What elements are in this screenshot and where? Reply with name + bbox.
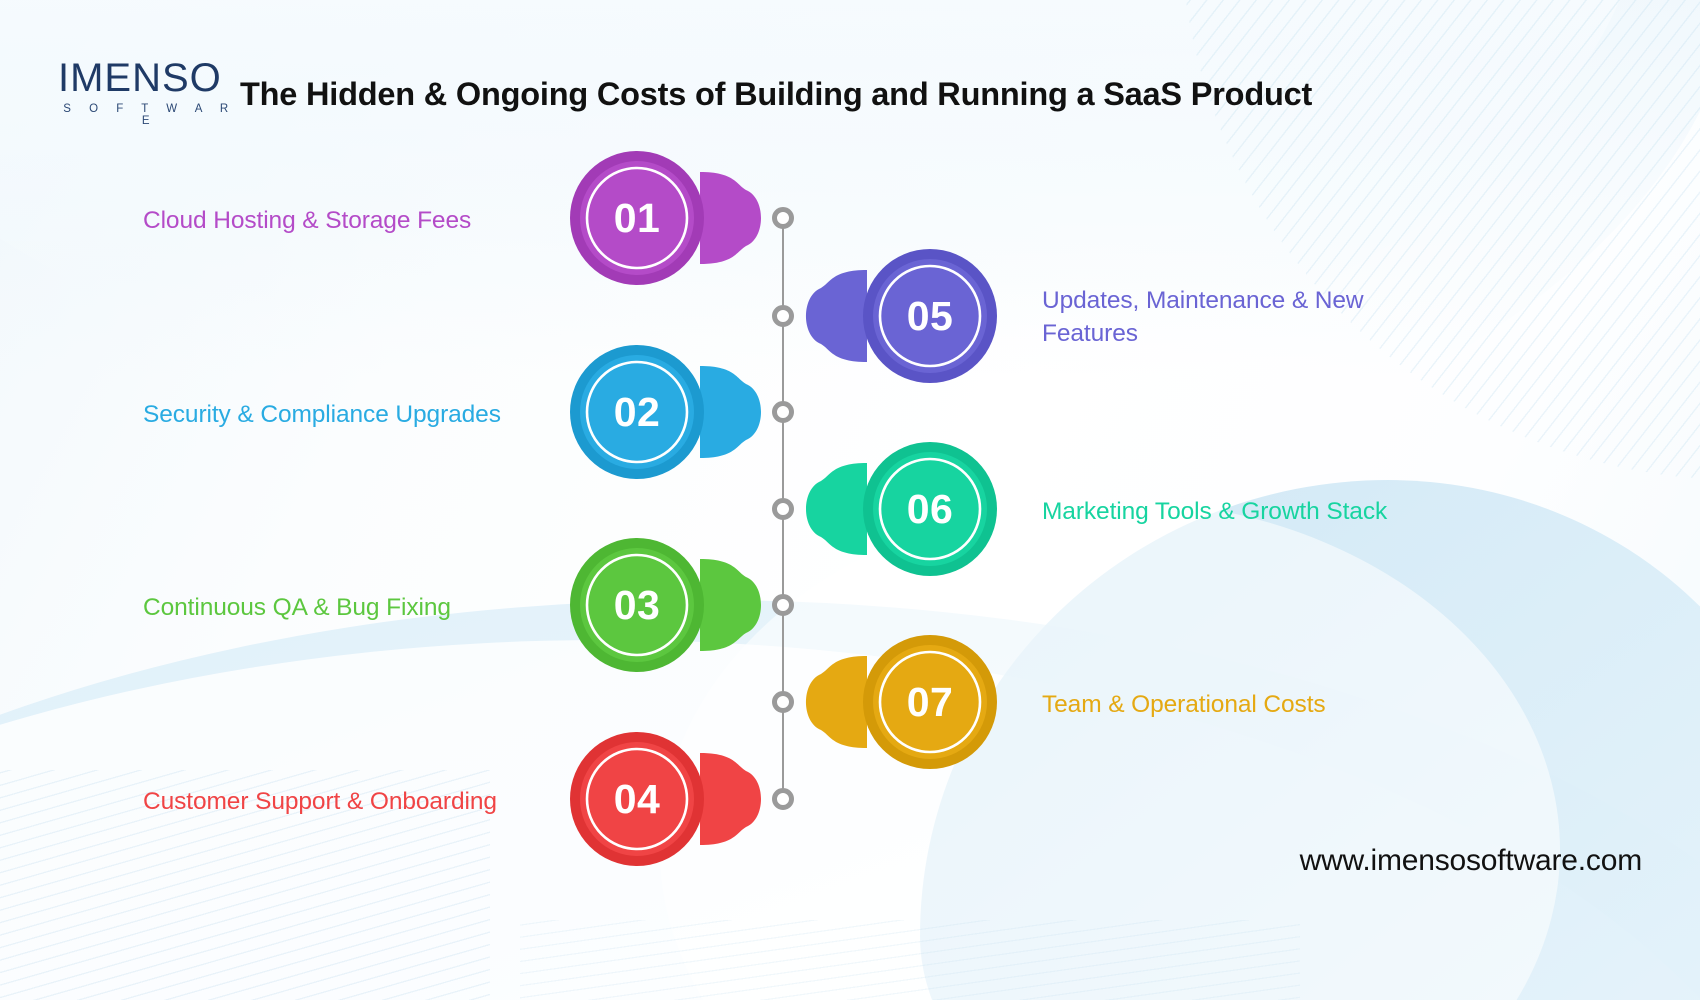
infographic-canvas: IMENSO S O F T W A R E The Hidden & Ongo…: [0, 0, 1700, 1000]
step-label-05: Updates, Maintenance & New Features: [1042, 284, 1442, 351]
step-badge-shape: [797, 236, 997, 396]
step-label-06: Marketing Tools & Growth Stack: [1042, 495, 1442, 528]
timeline-step-06[interactable]: 06Marketing Tools & Growth Stack: [0, 429, 1700, 589]
step-badge-07[interactable]: 07: [797, 622, 997, 782]
website-url[interactable]: www.imensosoftware.com: [1300, 844, 1642, 878]
step-label-04: Customer Support & Onboarding: [143, 785, 543, 818]
header: IMENSO S O F T W A R E The Hidden & Ongo…: [0, 0, 1700, 150]
step-badge-shape: [797, 622, 997, 782]
page-title: The Hidden & Ongoing Costs of Building a…: [240, 76, 1312, 113]
background-hatch-lines-bottom: [520, 920, 1300, 1000]
step-label-01: Cloud Hosting & Storage Fees: [143, 204, 543, 237]
step-label-02: Security & Compliance Upgrades: [143, 398, 543, 431]
step-label-07: Team & Operational Costs: [1042, 688, 1442, 721]
logo-wordmark: IMENSO: [58, 58, 238, 98]
timeline-step-07[interactable]: 07Team & Operational Costs: [0, 622, 1700, 782]
step-badge-shape: [797, 429, 997, 589]
step-badge-06[interactable]: 06: [797, 429, 997, 589]
logo-tagline: S O F T W A R E: [58, 103, 238, 127]
step-label-03: Continuous QA & Bug Fixing: [143, 591, 543, 624]
brand-logo[interactable]: IMENSO S O F T W A R E: [58, 58, 238, 127]
step-badge-05[interactable]: 05: [797, 236, 997, 396]
timeline-step-05[interactable]: 05Updates, Maintenance & New Features: [0, 236, 1700, 396]
